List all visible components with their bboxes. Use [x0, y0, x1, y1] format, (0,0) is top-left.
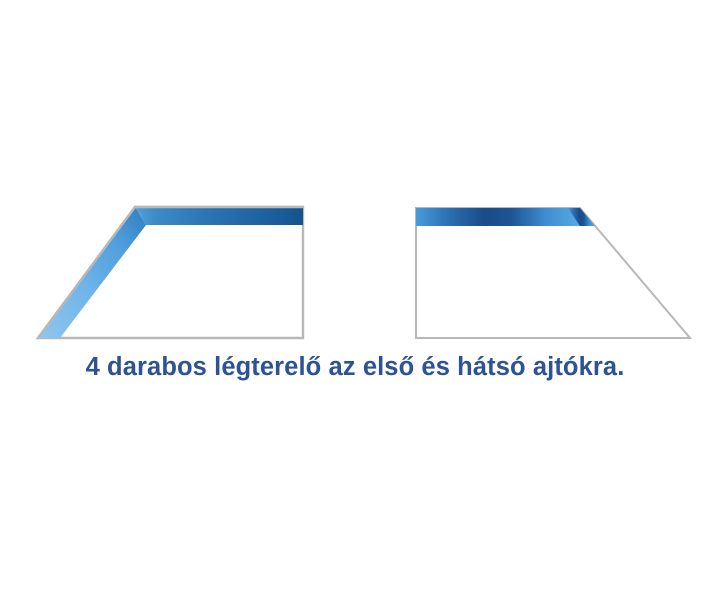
front-door-window-shape — [38, 207, 303, 338]
product-figure: 4 darabos légterelő az első és hátsó ajt… — [0, 0, 710, 613]
rear-door-glass-outline — [416, 208, 690, 338]
front-door-top-deflector-band — [135, 207, 303, 225]
deflector-illustration-svg — [0, 180, 710, 355]
rear-door-top-deflector-band — [416, 208, 580, 226]
rear-door-window-shape — [416, 208, 690, 338]
figure-caption: 4 darabos légterelő az első és hátsó ajt… — [0, 353, 710, 382]
front-door-glass-outline — [38, 207, 303, 338]
deflector-illustration — [0, 180, 710, 355]
